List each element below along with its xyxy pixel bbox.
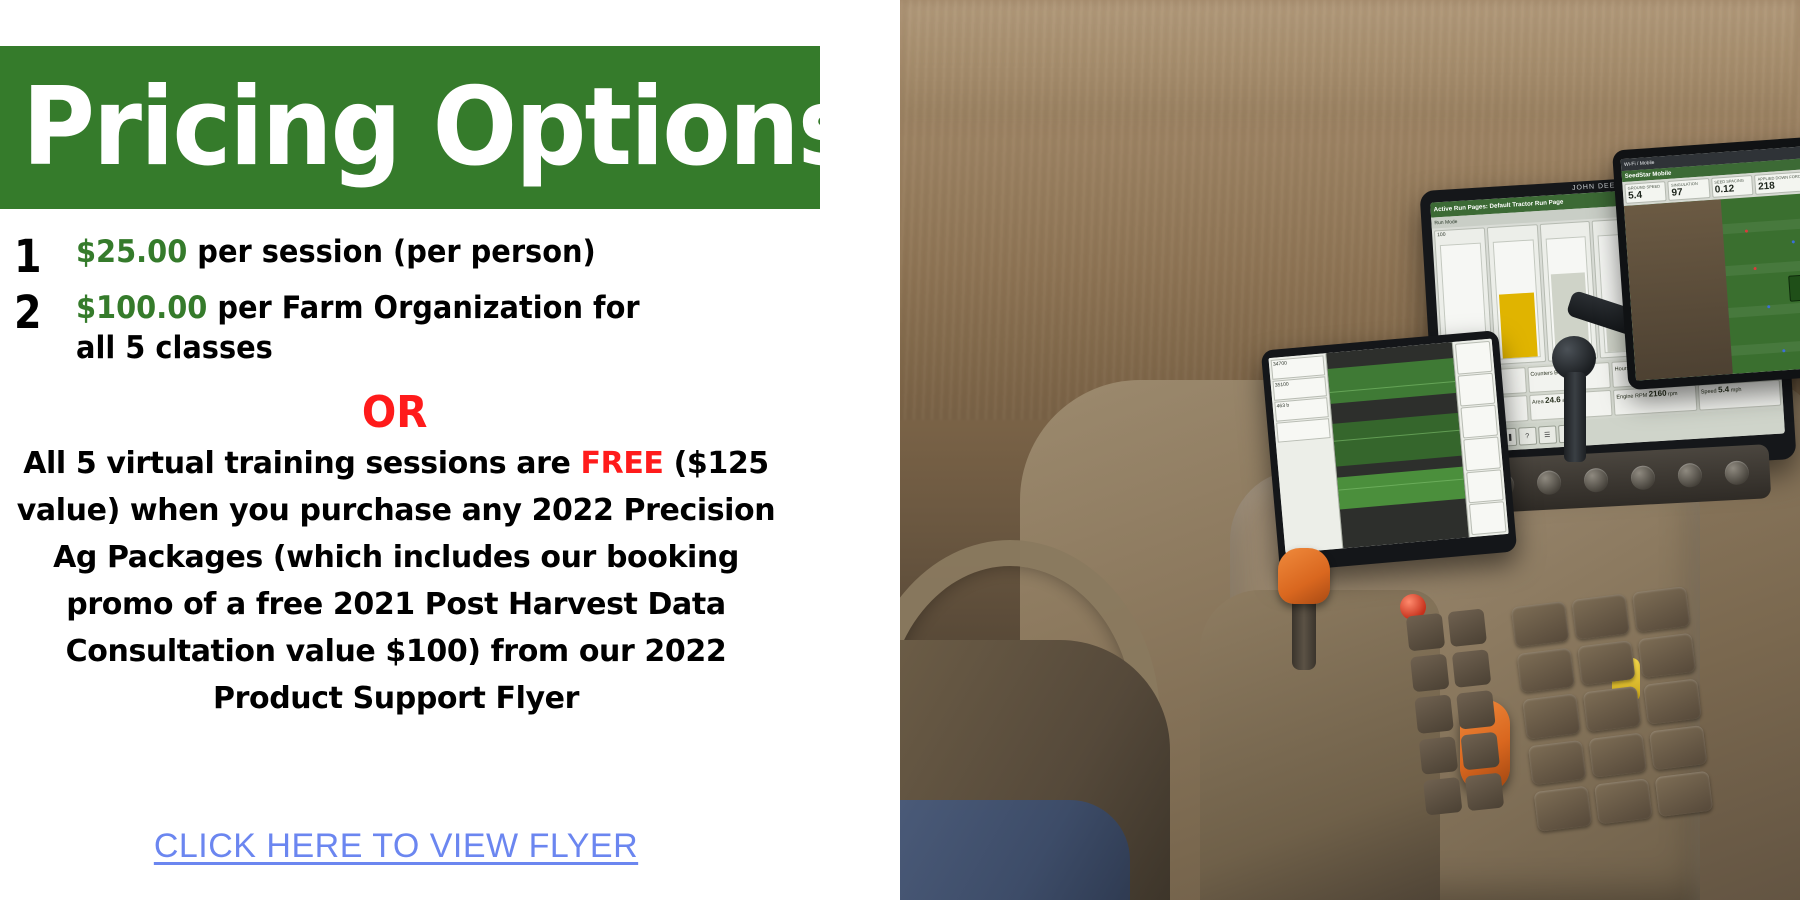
or-divider: OR bbox=[0, 388, 790, 438]
keypad-key[interactable] bbox=[1534, 786, 1592, 832]
metric-label: Counters B bbox=[1530, 370, 1558, 378]
keypad-key[interactable] bbox=[1588, 732, 1646, 778]
keypad-key[interactable] bbox=[1649, 725, 1707, 771]
gauge-track-2 bbox=[1493, 239, 1541, 359]
gauge-top-value: 100 bbox=[1435, 228, 1484, 239]
tractor-cab-photo: JOHN DEERE Active Run Pages: Default Tra… bbox=[900, 0, 1800, 900]
pricing-option-1: 1 $25.00 per session (per person) bbox=[0, 232, 820, 282]
keypad-key[interactable] bbox=[1528, 740, 1586, 786]
volume-button-icon[interactable] bbox=[1630, 465, 1655, 490]
tablet-stat-card: SINGULATION 97 bbox=[1668, 178, 1711, 201]
map-layers-icon[interactable] bbox=[1455, 341, 1493, 375]
keypad-key[interactable] bbox=[1522, 693, 1580, 739]
phone-button-icon[interactable] bbox=[1536, 470, 1561, 495]
secondary-display-screen[interactable]: 34700 35100 463 b bbox=[1268, 339, 1508, 554]
page-title: Pricing Options bbox=[0, 74, 855, 182]
flyer-page: Pricing Options 1 $25.00 per session (pe… bbox=[0, 0, 1800, 900]
keypad-key[interactable] bbox=[1423, 777, 1462, 816]
armrest bbox=[1200, 590, 1440, 900]
free-offer-paragraph: All 5 virtual training sessions are FREE… bbox=[6, 440, 786, 722]
tablet-screen[interactable]: Wi-Fi / Mobile 7:16 PM SeedStar Mobile G… bbox=[1621, 139, 1800, 380]
metric-cell: Engine RPM 2160 rpm bbox=[1613, 385, 1697, 416]
right-control-keypad[interactable] bbox=[1511, 586, 1713, 832]
option-1-description: per session (per person) bbox=[187, 234, 595, 270]
keypad-key[interactable] bbox=[1448, 608, 1487, 647]
guidance-icon[interactable] bbox=[1466, 469, 1504, 503]
stat-value: 0.12 bbox=[1714, 182, 1750, 195]
home-icon[interactable] bbox=[1469, 501, 1507, 535]
keypad-key[interactable] bbox=[1632, 586, 1690, 632]
planter-map-view[interactable] bbox=[1624, 186, 1800, 380]
view-flyer-link[interactable]: CLICK HERE TO VIEW FLYER bbox=[154, 827, 638, 865]
keypad-key[interactable] bbox=[1460, 731, 1499, 770]
metric-unit: mph bbox=[1731, 387, 1742, 394]
or-label: OR bbox=[362, 388, 428, 438]
secondary-display-gen4[interactable]: 34700 35100 463 b bbox=[1261, 330, 1517, 572]
metric-value: 5.4 bbox=[1718, 385, 1730, 395]
keypad-key[interactable] bbox=[1571, 594, 1629, 640]
keypad-key[interactable] bbox=[1638, 632, 1696, 678]
option-2-price: $100.00 bbox=[76, 290, 207, 326]
metric-label: Area bbox=[1532, 399, 1544, 406]
option-2-number: 2 bbox=[14, 288, 69, 338]
metric-value: 24.6 bbox=[1545, 395, 1561, 405]
pricing-options-banner: Pricing Options bbox=[0, 46, 820, 209]
keypad-key[interactable] bbox=[1655, 771, 1713, 817]
keypad-key[interactable] bbox=[1414, 695, 1453, 734]
keypad-key[interactable] bbox=[1577, 640, 1635, 686]
metric-value: 2160 bbox=[1648, 389, 1666, 399]
keypad-key[interactable] bbox=[1419, 736, 1458, 775]
option-1-number: 1 bbox=[14, 232, 69, 282]
stat-value: 97 bbox=[1671, 185, 1707, 198]
mode-button-icon[interactable] bbox=[1677, 463, 1702, 488]
keypad-key[interactable] bbox=[1452, 649, 1491, 688]
keypad-key[interactable] bbox=[1583, 686, 1641, 732]
keypad-key[interactable] bbox=[1406, 613, 1445, 652]
seedstar-mobile-tablet[interactable]: Wi-Fi / Mobile 7:16 PM SeedStar Mobile G… bbox=[1612, 130, 1800, 390]
option-1-price: $25.00 bbox=[76, 234, 187, 270]
joystick-handle[interactable] bbox=[1278, 548, 1330, 604]
keypad-key[interactable] bbox=[1456, 690, 1495, 729]
map-dirt-area bbox=[1624, 199, 1733, 380]
zoom-in-icon[interactable] bbox=[1458, 373, 1496, 407]
flyer-link-container: CLICK HERE TO VIEW FLYER bbox=[6, 826, 786, 866]
keypad-key[interactable] bbox=[1517, 647, 1575, 693]
operator-leg bbox=[900, 800, 1130, 900]
tablet-stat-card: APPLIED DOWN FORCE (LBF) 218 bbox=[1754, 171, 1800, 195]
offer-text-part1: All 5 virtual training sessions are bbox=[23, 446, 580, 481]
metric-label: Engine RPM bbox=[1616, 393, 1647, 401]
keypad-key[interactable] bbox=[1643, 679, 1701, 725]
metric-unit: rpm bbox=[1668, 391, 1678, 398]
offer-free-highlight: FREE bbox=[581, 446, 664, 481]
tablet-stat-card: SEED SPACING 0.12 bbox=[1711, 175, 1754, 198]
option-2-text: $100.00 per Farm Organization for all 5 … bbox=[76, 288, 671, 368]
pricing-option-2: 2 $100.00 per Farm Organization for all … bbox=[0, 288, 820, 368]
tablet-stat-card: GROUND SPEED 5.4 bbox=[1624, 181, 1667, 204]
pricing-options-list: 1 $25.00 per session (per person) 2 $100… bbox=[0, 232, 820, 374]
planter-icon bbox=[1788, 274, 1800, 301]
field-map-view[interactable] bbox=[1326, 342, 1469, 548]
keypad-key[interactable] bbox=[1410, 654, 1449, 693]
metric-label: Speed bbox=[1701, 388, 1717, 395]
tablet-connection-status: Wi-Fi / Mobile bbox=[1624, 160, 1655, 168]
option-1-text: $25.00 per session (per person) bbox=[76, 232, 596, 272]
tablet-mount-post bbox=[1564, 372, 1586, 462]
plus-button-icon[interactable] bbox=[1724, 460, 1749, 485]
zoom-out-icon[interactable] bbox=[1461, 405, 1499, 439]
stat-value: 5.4 bbox=[1628, 188, 1664, 201]
radio-button-icon[interactable] bbox=[1583, 468, 1608, 493]
help-icon[interactable]: ? bbox=[1518, 427, 1537, 446]
offer-text-part2: ($125 value) when you purchase any 2022 … bbox=[17, 446, 775, 716]
layers-icon[interactable]: ☰ bbox=[1538, 425, 1557, 444]
settings-gear-icon[interactable] bbox=[1463, 437, 1501, 471]
keypad-key[interactable] bbox=[1511, 601, 1569, 647]
keypad-key[interactable] bbox=[1465, 772, 1504, 811]
pricing-panel: Pricing Options 1 $25.00 per session (pe… bbox=[0, 0, 900, 900]
runmode-label: Run Mode bbox=[1434, 219, 1457, 226]
keypad-key[interactable] bbox=[1594, 779, 1652, 825]
sidebar-readout bbox=[1276, 418, 1331, 443]
